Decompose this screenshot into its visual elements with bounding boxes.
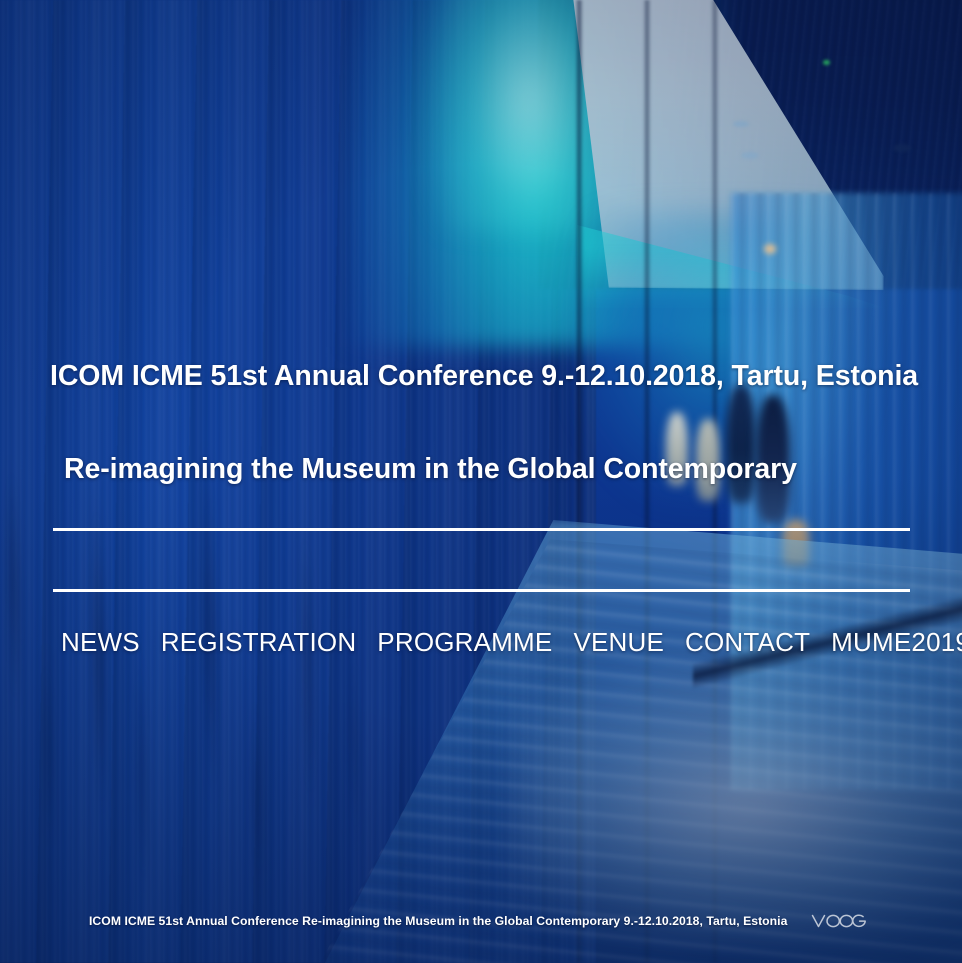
voog-logo-icon <box>811 912 867 930</box>
main-navigation: NEWS REGISTRATION PROGRAMME VENUE CONTAC… <box>61 626 962 658</box>
nav-item-registration[interactable]: REGISTRATION <box>161 626 356 658</box>
footer-content: ICOM ICME 51st Annual Conference Re-imag… <box>89 912 867 930</box>
nav-item-contact[interactable]: CONTACT <box>685 626 810 658</box>
page-subtitle: Re-imagining the Museum in the Global Co… <box>64 451 912 487</box>
hero-page: ICOM ICME 51st Annual Conference 9.-12.1… <box>0 0 962 963</box>
divider-line-top <box>53 528 910 531</box>
nav-item-news[interactable]: NEWS <box>61 626 140 658</box>
nav-item-mume2019[interactable]: MUME2019 <box>831 626 962 658</box>
footer-conference-line: ICOM ICME 51st Annual Conference Re-imag… <box>89 913 787 929</box>
nav-item-venue[interactable]: VENUE <box>573 626 664 658</box>
nav-item-programme[interactable]: PROGRAMME <box>377 626 552 658</box>
page-footer: ICOM ICME 51st Annual Conference Re-imag… <box>0 899 962 963</box>
voog-logo[interactable] <box>811 912 867 930</box>
divider-line-bottom <box>53 589 910 592</box>
page-title: ICOM ICME 51st Annual Conference 9.-12.1… <box>50 358 912 394</box>
hero-overlay: ICOM ICME 51st Annual Conference 9.-12.1… <box>0 0 962 963</box>
